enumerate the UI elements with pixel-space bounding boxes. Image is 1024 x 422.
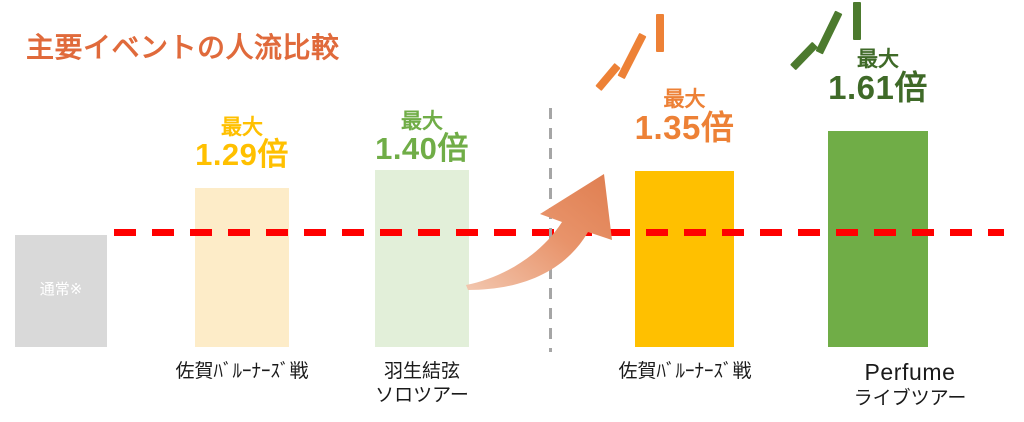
callout-ratio: 1.61倍 bbox=[810, 71, 946, 106]
category-label-line1: 佐賀ﾊﾞﾙｰﾅｰｽﾞ戦 bbox=[175, 361, 308, 382]
callout-ratio: 1.35倍 bbox=[620, 111, 749, 146]
value-callout-3: 最大 1.35倍 bbox=[620, 89, 749, 146]
category-label-1: 佐賀ﾊﾞﾙｰﾅｰｽﾞ戦 bbox=[152, 360, 332, 384]
category-label-2: 羽生結弦 ソロツアー bbox=[352, 360, 492, 408]
callout-max-word: 最大 bbox=[185, 117, 299, 139]
category-label-4: Perfume ライブツアー bbox=[820, 358, 1000, 411]
value-callout-4: 最大 1.61倍 bbox=[810, 49, 946, 106]
callout-ratio: 1.40倍 bbox=[365, 133, 479, 166]
callout-ratio: 1.29倍 bbox=[185, 139, 299, 172]
burst-mark-orange-icon bbox=[618, 33, 647, 79]
bar-hanyu-yuzuru-pale bbox=[375, 170, 469, 347]
category-label-3: 佐賀ﾊﾞﾙｰﾅｰｽﾞ戦 bbox=[595, 360, 775, 384]
burst-mark-green-icon bbox=[853, 2, 861, 40]
value-callout-2: 最大 1.40倍 bbox=[365, 111, 479, 166]
callout-max-word: 最大 bbox=[810, 49, 946, 71]
page-title: 主要イベントの人流比較 bbox=[26, 26, 340, 66]
growth-arrow-icon bbox=[462, 170, 632, 295]
callout-max-word: 最大 bbox=[620, 89, 749, 111]
category-label-line1: 佐賀ﾊﾞﾙｰﾅｰｽﾞ戦 bbox=[618, 361, 751, 382]
chart-canvas: 主要イベントの人流比較 通常※ 最大 1.29倍 最大 1.40倍 bbox=[0, 0, 1024, 422]
bar-perfume-solid bbox=[828, 131, 928, 347]
burst-mark-orange-icon bbox=[656, 14, 664, 52]
callout-max-word: 最大 bbox=[365, 111, 479, 133]
bar-saga-ballooners-solid bbox=[635, 171, 734, 347]
bar-baseline-label: 通常※ bbox=[15, 278, 107, 299]
burst-mark-green-icon bbox=[816, 11, 843, 55]
burst-mark-orange-icon bbox=[595, 63, 620, 91]
bar-saga-ballooners-pale bbox=[195, 188, 289, 347]
value-callout-1: 最大 1.29倍 bbox=[185, 117, 299, 172]
category-label-line1: 羽生結弦 bbox=[384, 361, 460, 382]
category-label-line2: ライブツアー bbox=[820, 387, 1000, 411]
category-label-line1: Perfume bbox=[864, 359, 955, 385]
category-label-line2: ソロツアー bbox=[352, 384, 492, 408]
